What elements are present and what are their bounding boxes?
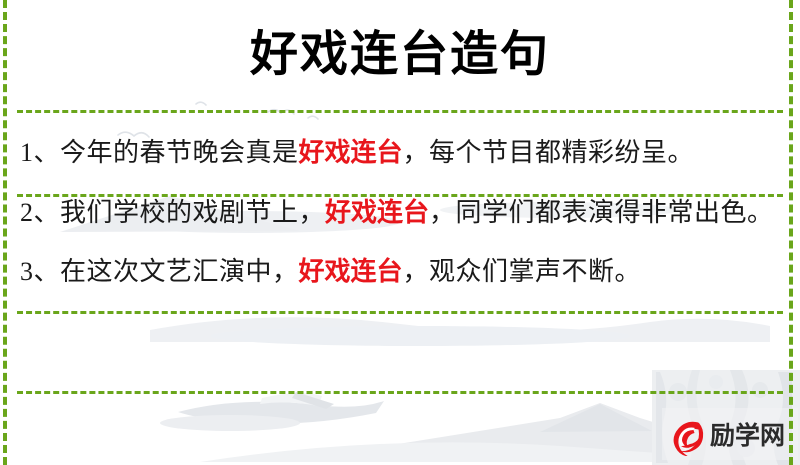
sentence-2-before: 我们学校的戏剧节上， — [60, 198, 325, 227]
page-title: 好戏连台造句 — [0, 23, 800, 85]
sentence-2-keyword: 好戏连台 — [325, 198, 429, 228]
sentence-1-before: 今年的春节晚会真是 — [60, 138, 299, 167]
sentence-3-before: 在这次文艺汇演中， — [60, 257, 299, 286]
sentence-item-3: 3、在这次文艺汇演中，好戏连台，观众们掌声不断。 — [20, 232, 782, 291]
sentence-item-1: 1、今年的春节晚会真是好戏连台，每个节目都精彩纷呈。 — [20, 110, 782, 172]
sentence-3-index: 3、 — [20, 257, 60, 286]
right-dashed-rail — [789, 0, 793, 465]
boat-watermark-icon — [160, 392, 384, 431]
sentence-list: 1、今年的春节晚会真是好戏连台，每个节目都精彩纷呈。 2、我们学校的戏剧节上，好… — [20, 110, 782, 291]
sentence-3-keyword: 好戏连台 — [299, 257, 403, 287]
separator-line-4 — [17, 391, 783, 394]
poster-page: 好戏连台造句 1、今年的春节晚会真是好戏连台，每个节目都精彩纷呈。 2、我们学校… — [0, 0, 800, 465]
site-logo[interactable]: 励学网 — [668, 414, 792, 458]
site-logo-text: 励学网 — [710, 422, 785, 450]
swirl-flame-logo-icon — [668, 416, 708, 456]
separator-line-3 — [17, 311, 783, 314]
sentence-item-2: 2、我们学校的戏剧节上，好戏连台，同学们都表演得非常出色。 — [20, 172, 782, 232]
left-dashed-rail — [3, 0, 7, 465]
sentence-2-after: ，同学们都表演得非常出色。 — [429, 198, 774, 227]
sentence-1-after: ，每个节目都精彩纷呈。 — [403, 138, 695, 167]
separator-line-1 — [17, 110, 783, 113]
separator-line-2 — [17, 194, 783, 197]
sentence-3-after: ，观众们掌声不断。 — [403, 257, 642, 286]
sentence-1-index: 1、 — [20, 138, 60, 167]
sentence-2-index: 2、 — [20, 198, 60, 227]
sentence-1-keyword: 好戏连台 — [299, 138, 403, 168]
